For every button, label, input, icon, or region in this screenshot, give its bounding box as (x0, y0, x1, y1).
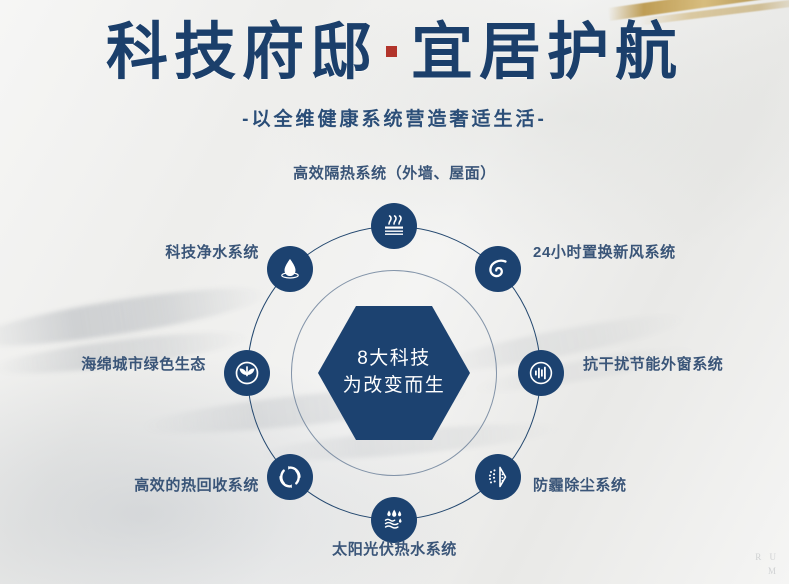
label-dust-removal: 防霾除尘系统 (533, 478, 627, 493)
center-hexagon-line-1: 8大科技 (357, 349, 431, 370)
watermark-line-1: R U (755, 551, 779, 565)
label-fresh-air-system: 24小时置换新风系统 (533, 245, 676, 260)
node-heat-recovery[interactable] (267, 454, 313, 500)
node-water-purification[interactable] (267, 246, 313, 292)
node-sponge-city-ecology[interactable] (224, 350, 270, 396)
label-noise-resistant-window: 抗干扰节能外窗系统 (583, 357, 723, 372)
recycle-icon (277, 464, 303, 490)
page-title-right: 宜居护航 (411, 19, 683, 87)
header-block: 科技府邸宜居护航 -以全维健康系统营造奢适生活- (0, 0, 789, 131)
watermark-line-2: M (755, 565, 779, 579)
label-heat-insulation: 高效隔热系统（外墙、屋面） (0, 166, 789, 181)
water-drop-icon (277, 256, 303, 282)
dust-filter-icon (485, 464, 511, 490)
leaf-sprout-icon (233, 359, 261, 387)
solar-water-icon (381, 507, 407, 533)
poster-canvas: 科技府邸宜居护航 -以全维健康系统营造奢适生活- 8大科技 为改变而生 (0, 0, 789, 584)
page-title-left: 科技府邸 (106, 19, 378, 87)
node-solar-water-heating[interactable] (371, 497, 417, 543)
label-solar-water-heating: 太阳光伏热水系统 (0, 542, 789, 557)
label-sponge-city-ecology: 海绵城市绿色生态 (81, 357, 206, 372)
watermark: R U M (755, 551, 779, 578)
node-dust-removal[interactable] (475, 454, 521, 500)
label-heat-recovery: 高效的热回收系统 (134, 478, 259, 493)
technology-wheel-diagram: 8大科技 为改变而生 (214, 193, 574, 553)
node-noise-resistant-window[interactable] (518, 350, 564, 396)
label-water-purification: 科技净水系统 (165, 245, 259, 260)
node-heat-insulation[interactable] (371, 203, 417, 249)
center-hexagon-line-2: 为改变而生 (343, 376, 446, 397)
sound-wave-icon (527, 359, 555, 387)
page-title: 科技府邸宜居护航 (0, 22, 789, 84)
air-swirl-icon (484, 255, 512, 283)
red-square-dot-icon (386, 46, 397, 57)
node-fresh-air-system[interactable] (475, 246, 521, 292)
heat-waves-icon (381, 213, 407, 239)
page-subtitle: -以全维健康系统营造奢适生活- (0, 104, 789, 131)
